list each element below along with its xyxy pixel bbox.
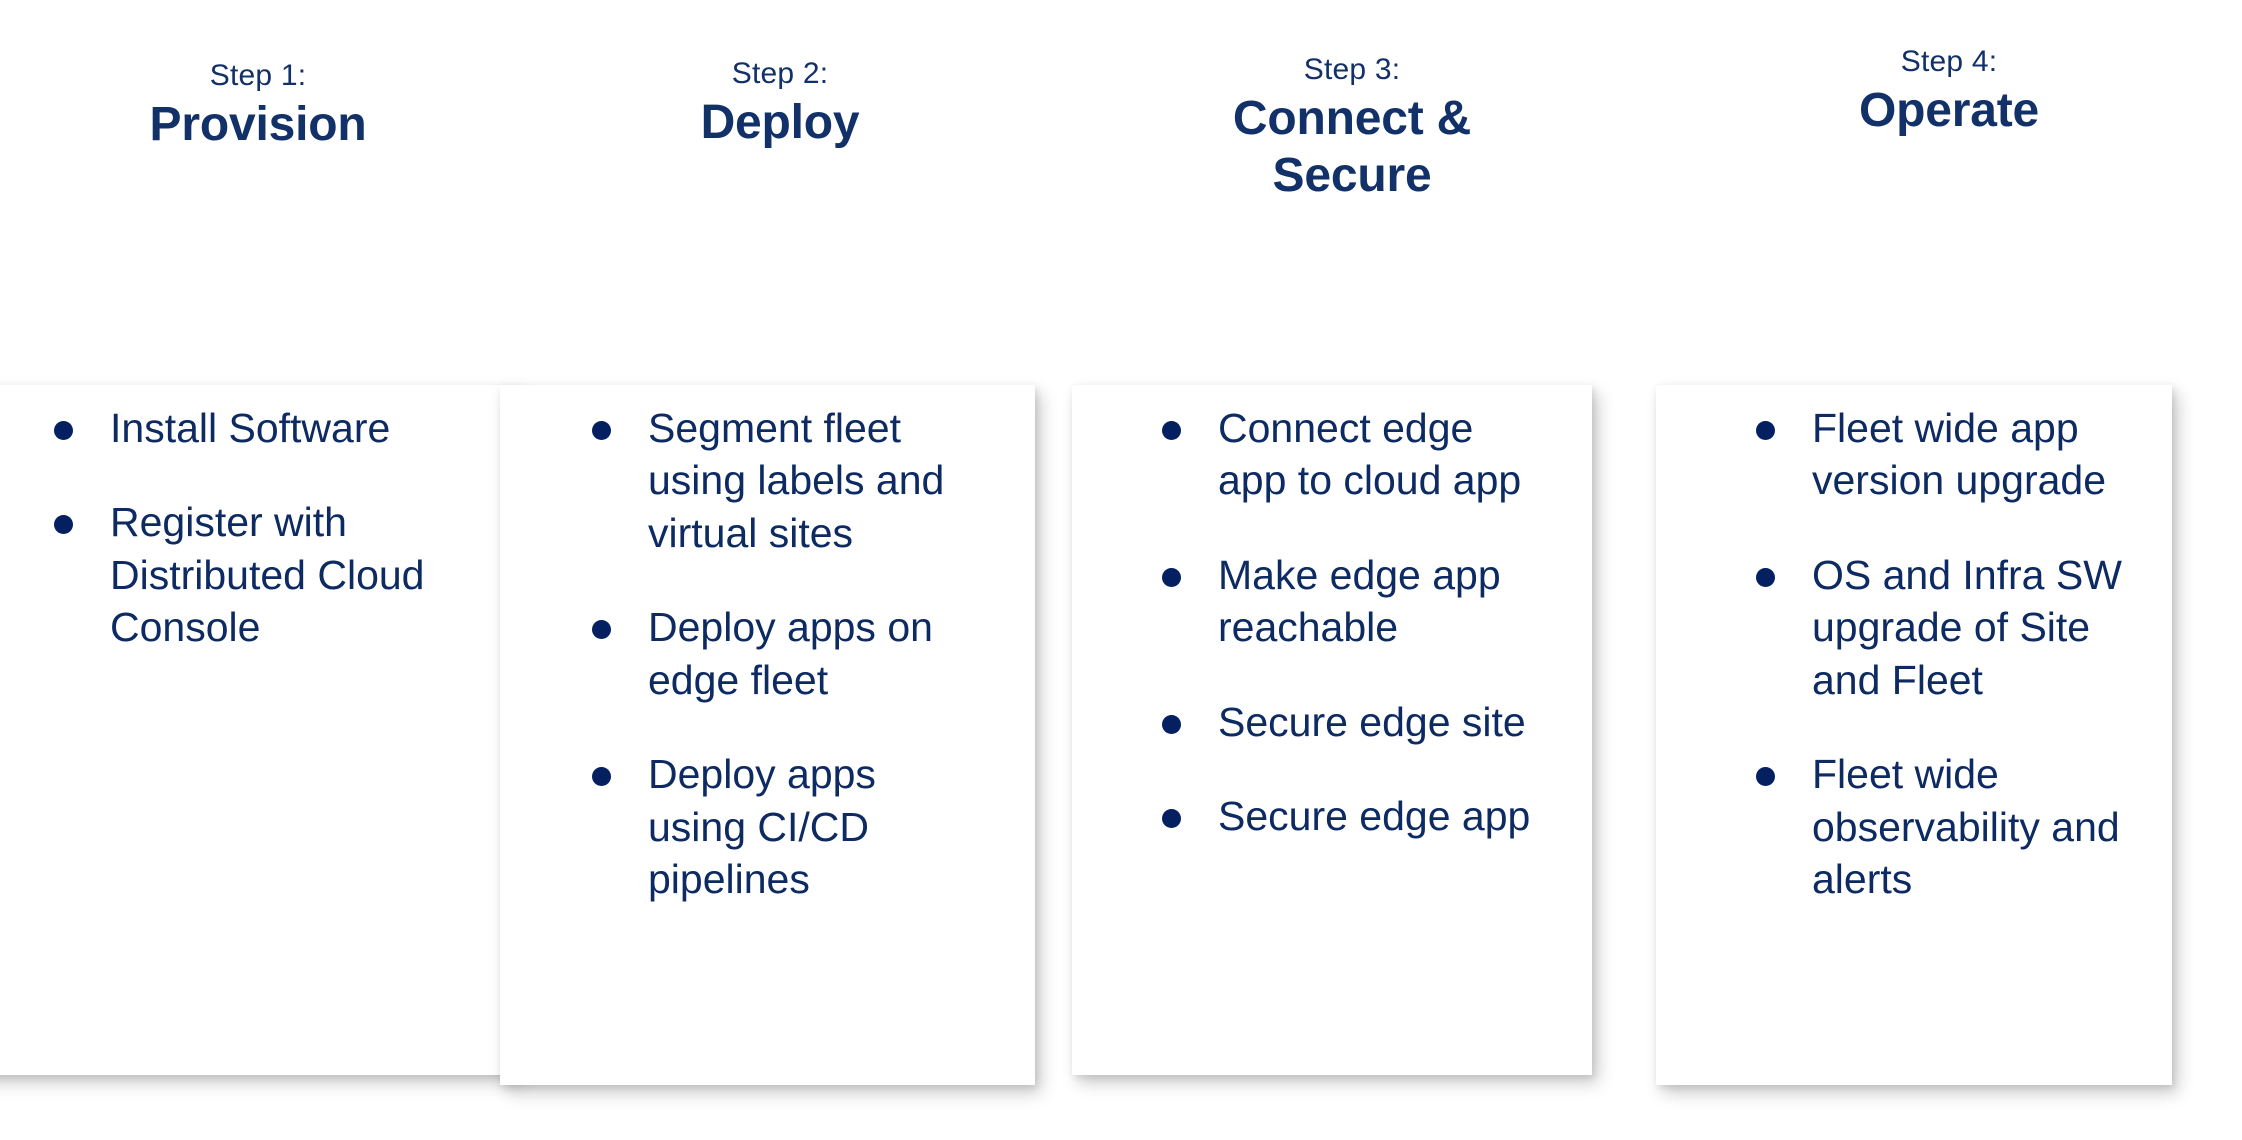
bullet-text: Register with Distributed Cloud Console bbox=[110, 496, 444, 653]
bullet-list-4: Fleet wide app version upgrade OS and In… bbox=[1746, 402, 2146, 906]
step-title-4: Operate bbox=[1656, 83, 2242, 140]
bullet-dot-icon bbox=[1756, 568, 1775, 587]
step-label-2: Step 2: bbox=[500, 56, 1060, 91]
step-column-2: Step 2: Deploy Segment fleet using label… bbox=[500, 0, 1060, 1140]
step-label-3: Step 3: bbox=[1072, 52, 1632, 87]
list-item: OS and Infra SW upgrade of Site and Flee… bbox=[1746, 549, 2146, 706]
bullet-dot-icon bbox=[1162, 715, 1181, 734]
bullet-text: Install Software bbox=[110, 402, 444, 454]
bullet-dot-icon bbox=[54, 515, 73, 534]
bullet-text: Secure edge app bbox=[1218, 790, 1552, 842]
step-column-1: Step 1: Provision Install Software Regis… bbox=[0, 0, 516, 1140]
bullet-list-1: Install Software Register with Distribut… bbox=[44, 402, 444, 654]
step-title-1: Provision bbox=[0, 97, 516, 154]
bullet-dot-icon bbox=[1162, 809, 1181, 828]
bullet-text: Connect edge app to cloud app bbox=[1218, 402, 1552, 507]
list-item: Make edge app reachable bbox=[1152, 549, 1552, 654]
list-item: Fleet wide observability and alerts bbox=[1746, 748, 2146, 905]
list-item: Secure edge site bbox=[1152, 696, 1552, 748]
step-column-4: Step 4: Operate Fleet wide app version u… bbox=[1656, 0, 2242, 1140]
bullet-text: OS and Infra SW upgrade of Site and Flee… bbox=[1812, 549, 2146, 706]
bullet-dot-icon bbox=[1162, 568, 1181, 587]
bullet-list-3: Connect edge app to cloud app Make edge … bbox=[1152, 402, 1552, 843]
bullet-dot-icon bbox=[592, 767, 611, 786]
bullet-list-2: Segment fleet using labels and virtual s… bbox=[582, 402, 962, 906]
list-item: Deploy apps using CI/CD pipelines bbox=[582, 748, 962, 905]
bullet-text: Deploy apps using CI/CD pipelines bbox=[648, 748, 962, 905]
bullet-text: Secure edge site bbox=[1218, 696, 1552, 748]
step-title-2: Deploy bbox=[500, 95, 1060, 152]
slide-canvas: Step 1: Provision Install Software Regis… bbox=[0, 0, 2242, 1140]
step-heading-2: Step 2: Deploy bbox=[500, 56, 1060, 152]
step-heading-1: Step 1: Provision bbox=[0, 58, 516, 154]
bullet-dot-icon bbox=[1162, 421, 1181, 440]
list-item: Connect edge app to cloud app bbox=[1152, 402, 1552, 507]
bullet-text: Deploy apps on edge fleet bbox=[648, 601, 962, 706]
bullet-dot-icon bbox=[592, 421, 611, 440]
bullet-dot-icon bbox=[54, 421, 73, 440]
bullet-dot-icon bbox=[1756, 767, 1775, 786]
step-title-3: Connect & Secure bbox=[1202, 91, 1502, 204]
list-item: Secure edge app bbox=[1152, 790, 1552, 842]
step-heading-4: Step 4: Operate bbox=[1656, 44, 2242, 140]
step-label-1: Step 1: bbox=[0, 58, 516, 93]
list-item: Segment fleet using labels and virtual s… bbox=[582, 402, 962, 559]
step-column-3: Step 3: Connect & Secure Connect edge ap… bbox=[1072, 0, 1632, 1140]
step-label-4: Step 4: bbox=[1656, 44, 2242, 79]
bullet-dot-icon bbox=[592, 620, 611, 639]
list-item: Register with Distributed Cloud Console bbox=[44, 496, 444, 653]
step-heading-3: Step 3: Connect & Secure bbox=[1072, 52, 1632, 205]
bullet-dot-icon bbox=[1756, 421, 1775, 440]
list-item: Install Software bbox=[44, 402, 444, 454]
list-item: Deploy apps on edge fleet bbox=[582, 601, 962, 706]
list-item: Fleet wide app version upgrade bbox=[1746, 402, 2146, 507]
bullet-text: Segment fleet using labels and virtual s… bbox=[648, 402, 962, 559]
bullet-text: Make edge app reachable bbox=[1218, 549, 1552, 654]
bullet-text: Fleet wide observability and alerts bbox=[1812, 748, 2146, 905]
bullet-text: Fleet wide app version upgrade bbox=[1812, 402, 2146, 507]
